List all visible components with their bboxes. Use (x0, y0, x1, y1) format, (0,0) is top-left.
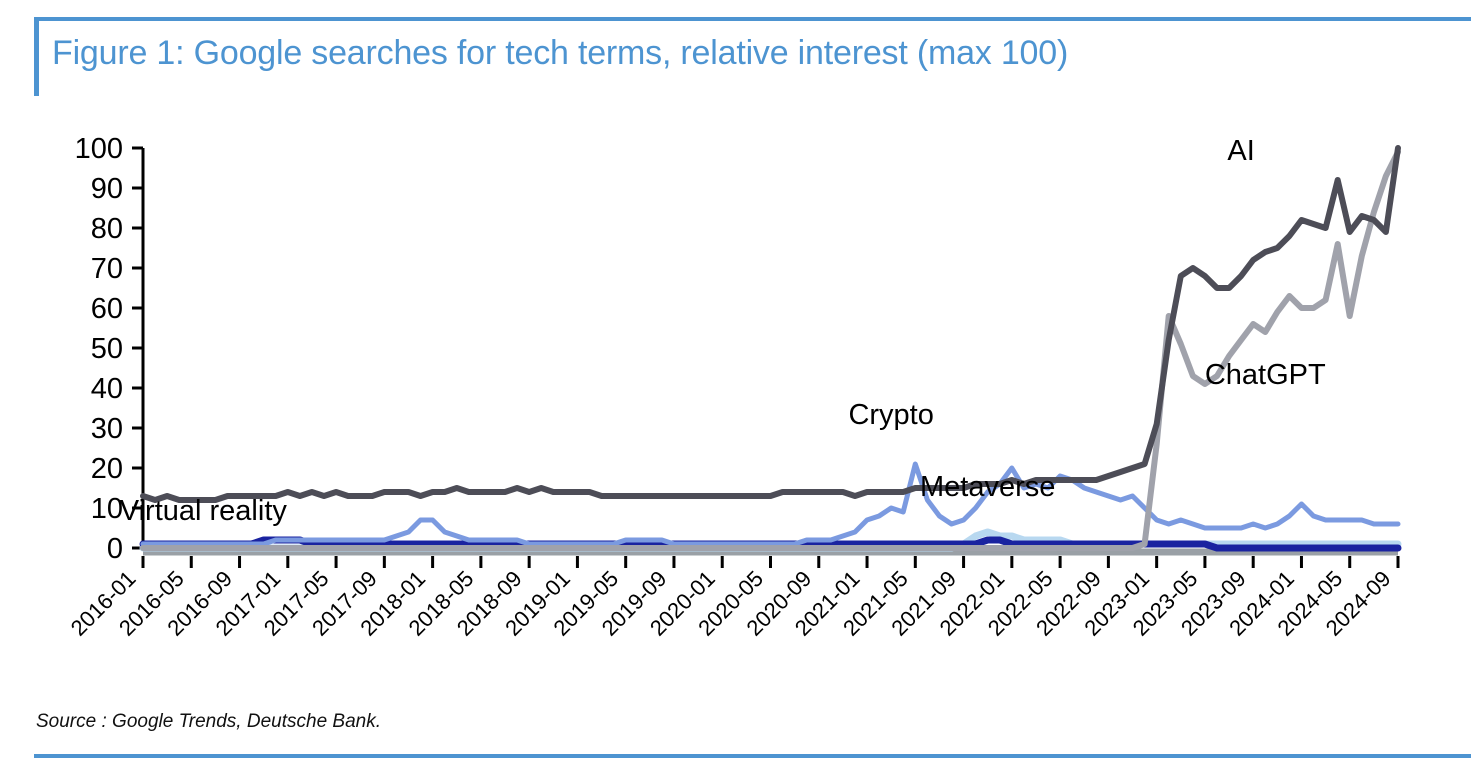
y-tick-label: 60 (91, 293, 123, 325)
y-tick-label: 20 (91, 453, 123, 485)
y-tick-label: 90 (91, 173, 123, 205)
y-tick-label: 0 (107, 533, 123, 565)
series-line-crypto (143, 464, 1398, 544)
series-label-metaverse: Metaverse (920, 471, 1055, 503)
series-label-crypto: Crypto (848, 399, 933, 431)
y-tick-label: 100 (75, 133, 123, 165)
y-tick-label: 30 (91, 413, 123, 445)
y-tick-label: 10 (91, 493, 123, 525)
title-accent-bar (34, 17, 39, 96)
series-line-chatgpt (143, 152, 1398, 548)
series-label-chatgpt: ChatGPT (1205, 359, 1326, 391)
figure-card: Figure 1: Google searches for tech terms… (0, 0, 1483, 777)
series-label-virtual-reality: Virtual reality (120, 495, 288, 527)
source-note: Source : Google Trends, Deutsche Bank. (36, 711, 381, 733)
series-label-ai: AI (1227, 135, 1254, 167)
y-tick-label: 80 (91, 213, 123, 245)
y-tick-label: 40 (91, 373, 123, 405)
top-divider (34, 17, 1471, 21)
line-chart: 01020304050607080901002016-012016-052016… (0, 110, 1483, 670)
chart-plot-area: 01020304050607080901002016-012016-052016… (0, 110, 1483, 670)
bottom-divider (34, 754, 1471, 758)
series-line-ai (143, 148, 1398, 500)
page-title: Figure 1: Google searches for tech terms… (52, 34, 1392, 73)
y-tick-label: 50 (91, 333, 123, 365)
y-tick-label: 70 (91, 253, 123, 285)
